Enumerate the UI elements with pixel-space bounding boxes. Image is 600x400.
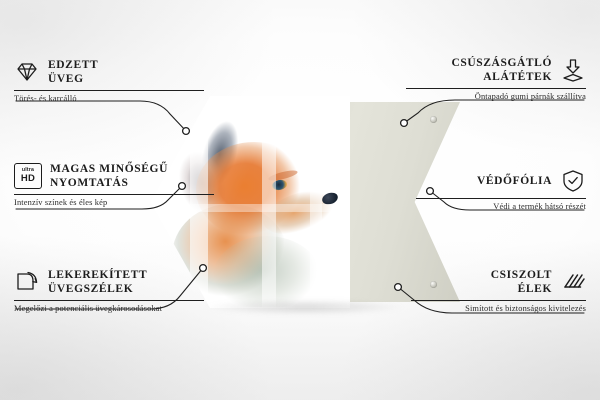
- divider: [14, 90, 204, 91]
- divider: [14, 194, 214, 195]
- feature-title: CSÚSZÁSGÁTLÓ ALÁTÉTEK: [451, 56, 552, 84]
- feature-title: VÉDŐFÓLIA: [477, 174, 552, 188]
- shield-check-icon: [560, 168, 586, 194]
- feature-title: MAGAS MINŐSÉGŰ NYOMTATÁS: [50, 162, 168, 190]
- divider: [14, 300, 204, 301]
- feature-subtitle: Intenzív színek és éles kép: [14, 198, 214, 207]
- badge-hd-label: HD: [21, 174, 35, 184]
- diamond-icon: [14, 59, 40, 85]
- ultra-hd-badge-icon: ultra HD: [14, 163, 42, 189]
- feature-subtitle: Megelőzi a potenciális üvegkárosodásokat: [14, 304, 204, 313]
- feature-subtitle: Törés- és karcálló: [14, 94, 204, 103]
- feature-rounded-edges: LEKEREKÍTETT ÜVEGSZÉLEK Megelőzi a poten…: [14, 268, 204, 313]
- press-down-pad-icon: [560, 57, 586, 83]
- feature-subtitle: Simított és biztonságos kivitelezés: [411, 304, 586, 313]
- feature-title: CSISZOLT ÉLEK: [491, 268, 552, 296]
- feature-title: EDZETT ÜVEG: [48, 58, 98, 86]
- feature-tempered-glass: EDZETT ÜVEG Törés- és karcálló: [14, 58, 204, 103]
- infographic-canvas: EDZETT ÜVEG Törés- és karcálló ultra HD …: [0, 0, 600, 400]
- feature-high-quality-print: ultra HD MAGAS MINŐSÉGŰ NYOMTATÁS Intenz…: [14, 162, 214, 207]
- feature-anti-slip-pads: CSÚSZÁSGÁTLÓ ALÁTÉTEK Öntapadó gumi párn…: [406, 56, 586, 101]
- divider: [416, 198, 586, 199]
- product-shadow: [165, 296, 445, 318]
- feature-protective-foil: VÉDŐFÓLIA Védi a termék hátsó részét: [416, 168, 586, 211]
- rounded-corner-icon: [14, 269, 40, 295]
- divider: [406, 88, 586, 89]
- feature-polished-edges: CSISZOLT ÉLEK Simított és biztonságos ki…: [411, 268, 586, 313]
- feature-subtitle: Öntapadó gumi párnák szállítva: [406, 92, 586, 101]
- divider: [411, 300, 586, 301]
- adhesive-pad: [430, 116, 437, 123]
- feature-title: LEKEREKÍTETT ÜVEGSZÉLEK: [48, 268, 147, 296]
- diagonal-hatch-icon: [560, 269, 586, 295]
- feature-subtitle: Védi a termék hátsó részét: [416, 202, 586, 211]
